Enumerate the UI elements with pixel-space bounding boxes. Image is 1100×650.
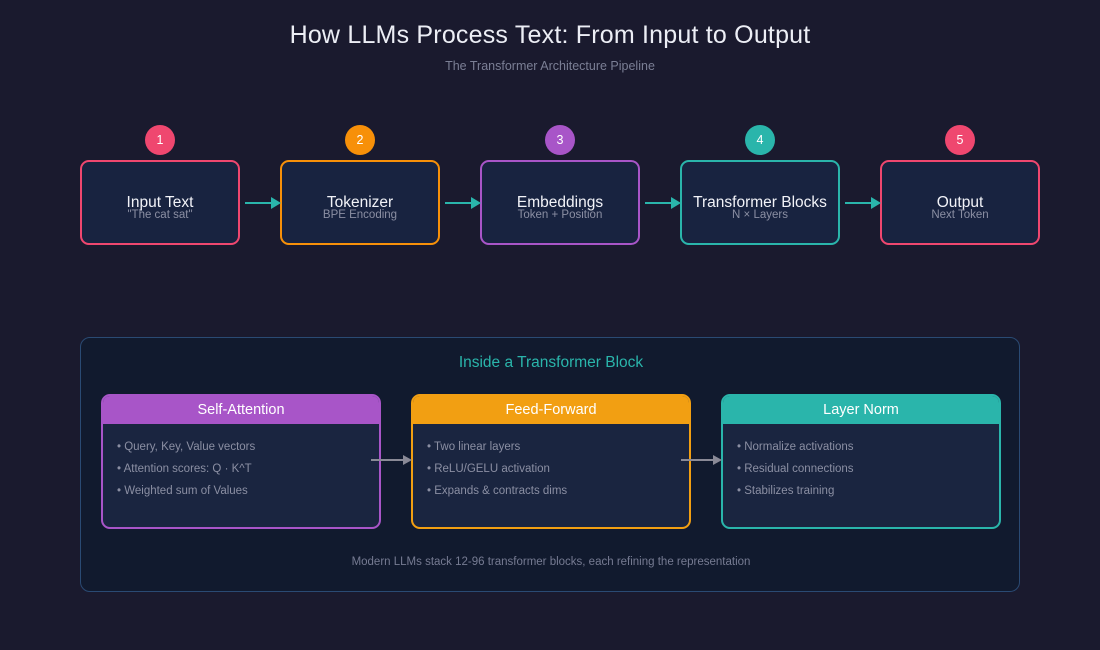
component-title: Feed-Forward: [413, 396, 689, 424]
pipeline-stage-1[interactable]: Input Text: [80, 160, 240, 245]
arrow-head-icon: [871, 197, 881, 209]
stage-badge-2: 2: [345, 125, 375, 155]
arrow-shaft: [645, 202, 673, 204]
stage-badge-1: 1: [145, 125, 175, 155]
component-bullet: • Attention scores: Q · K^T: [117, 458, 365, 480]
component-arrow-2: [681, 455, 723, 465]
component-bullet: • Query, Key, Value vectors: [117, 436, 365, 458]
panel-footer-note: Modern LLMs stack 12-96 transformer bloc…: [81, 555, 1021, 570]
transformer-component-card[interactable]: Layer Norm• Normalize activations• Resid…: [721, 394, 1001, 529]
stage-badge-3: 3: [545, 125, 575, 155]
component-bullet: • Residual connections: [737, 458, 985, 480]
component-body: • Query, Key, Value vectors• Attention s…: [103, 424, 379, 502]
component-body: • Normalize activations• Residual connec…: [723, 424, 999, 502]
pipeline-arrow-3: [645, 197, 683, 209]
page-title: How LLMs Process Text: From Input to Out…: [0, 20, 1100, 50]
arrow-head-icon: [471, 197, 481, 209]
pipeline-stage-2[interactable]: Tokenizer: [280, 160, 440, 245]
arrow-shaft: [245, 202, 273, 204]
component-title: Layer Norm: [723, 396, 999, 424]
arrow-head-icon: [671, 197, 681, 209]
pipeline-arrow-4: [845, 197, 883, 209]
component-bullet: • Normalize activations: [737, 436, 985, 458]
stage-subtitle: BPE Encoding: [280, 208, 440, 223]
pipeline-row: 1Input Text"The cat sat"2TokenizerBPE En…: [0, 125, 1100, 250]
component-title: Self-Attention: [103, 396, 379, 424]
component-bullet: • Two linear layers: [427, 436, 675, 458]
arrow-head-icon: [713, 455, 722, 465]
stage-subtitle: Token + Position: [480, 208, 640, 223]
component-bullet: • Stabilizes training: [737, 480, 985, 502]
component-body: • Two linear layers• ReLU/GELU activatio…: [413, 424, 689, 502]
arrow-shaft: [845, 202, 873, 204]
arrow-shaft: [445, 202, 473, 204]
stage-subtitle: "The cat sat": [80, 208, 240, 223]
pipeline-stage-4[interactable]: Transformer Blocks: [680, 160, 840, 245]
page-subtitle: The Transformer Architecture Pipeline: [0, 58, 1100, 74]
stage-subtitle: Next Token: [880, 208, 1040, 223]
stage-subtitle: N × Layers: [680, 208, 840, 223]
arrow-shaft: [681, 459, 715, 461]
pipeline-arrow-2: [445, 197, 483, 209]
component-bullet: • Expands & contracts dims: [427, 480, 675, 502]
pipeline-stage-5[interactable]: Output: [880, 160, 1040, 245]
transformer-component-card[interactable]: Self-Attention• Query, Key, Value vector…: [101, 394, 381, 529]
arrow-head-icon: [403, 455, 412, 465]
transformer-detail-panel: Inside a Transformer Block Self-Attentio…: [80, 337, 1020, 592]
component-bullet: • Weighted sum of Values: [117, 480, 365, 502]
pipeline-stage-3[interactable]: Embeddings: [480, 160, 640, 245]
page-header: How LLMs Process Text: From Input to Out…: [0, 20, 1100, 74]
pipeline-arrow-1: [245, 197, 283, 209]
arrow-shaft: [371, 459, 405, 461]
component-arrow-1: [371, 455, 413, 465]
component-bullet: • ReLU/GELU activation: [427, 458, 675, 480]
panel-title: Inside a Transformer Block: [81, 353, 1021, 373]
stage-badge-4: 4: [745, 125, 775, 155]
arrow-head-icon: [271, 197, 281, 209]
transformer-component-card[interactable]: Feed-Forward• Two linear layers• ReLU/GE…: [411, 394, 691, 529]
stage-badge-5: 5: [945, 125, 975, 155]
